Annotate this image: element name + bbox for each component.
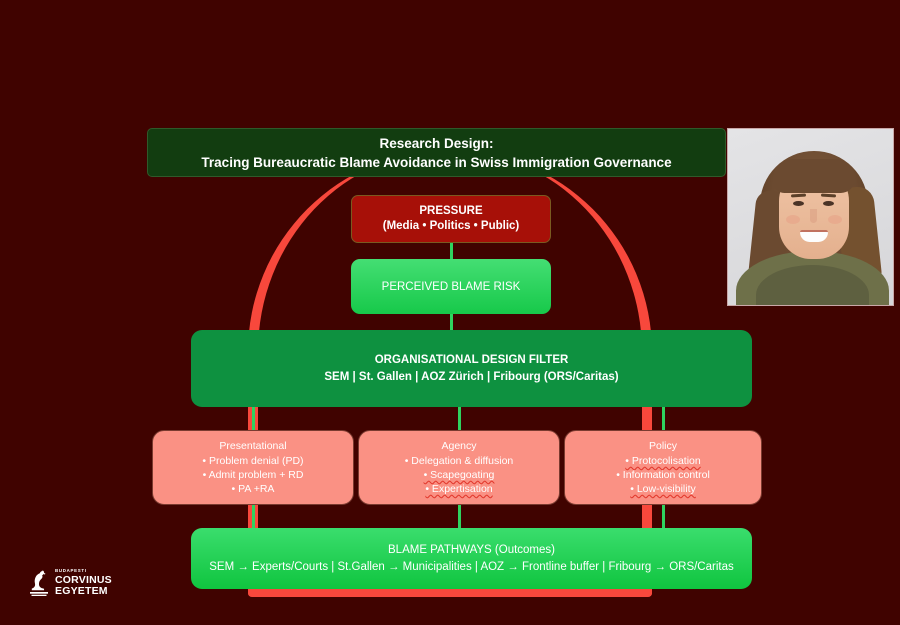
headshot-eye-left — [793, 201, 804, 206]
connector-filter-to-policy — [662, 406, 665, 431]
connector-policy-to-pathways — [662, 504, 665, 529]
slide-title-line2: Tracing Bureaucratic Blame Avoidance in … — [201, 153, 671, 172]
pillar-policy-item-2: • Low-visibility — [630, 482, 696, 496]
pillar-presentational-item-2: • PA +RA — [232, 482, 275, 496]
connector-presentational-to-pathways — [252, 504, 255, 529]
connector-filter-to-agency — [458, 406, 461, 431]
node-pathways-subtitle: SEM → Experts/Courts | St.Gallen → Munic… — [209, 559, 734, 576]
node-pathways-title: BLAME PATHWAYS (Outcomes) — [388, 542, 555, 559]
pillar-agency-item-1: • Scapegoating — [424, 468, 495, 482]
node-pressure-title: PRESSURE — [419, 204, 482, 219]
node-organisational-design-filter: ORGANISATIONAL DESIGN FILTER SEM | St. G… — [191, 330, 752, 407]
headshot-eye-right — [823, 201, 834, 206]
pillar-presentational-heading: Presentational — [219, 439, 286, 453]
headshot-cheek-left — [786, 215, 800, 224]
slide-title-line1: Research Design: — [379, 134, 493, 153]
node-perceived-blame-risk-label: PERCEIVED BLAME RISK — [382, 281, 521, 293]
node-pillar-presentational: Presentational • Problem denial (PD) • A… — [152, 430, 354, 505]
connector-filter-to-presentational — [252, 406, 255, 431]
node-pressure: PRESSURE (Media • Politics • Public) — [351, 195, 551, 243]
pillar-policy-heading: Policy — [649, 439, 677, 453]
connector-agency-to-pathways — [458, 504, 461, 529]
pillar-agency-heading: Agency — [441, 439, 476, 453]
logo-line-egyetem: EGYETEM — [55, 586, 112, 597]
pillar-agency-item-0: • Delegation & diffusion — [405, 454, 514, 468]
presenter-headshot — [727, 128, 894, 306]
headshot-cheek-right — [828, 215, 842, 224]
pillar-policy-item-0: • Protocolisation — [625, 454, 700, 468]
node-blame-pathways: BLAME PATHWAYS (Outcomes) SEM → Experts/… — [191, 528, 752, 589]
pillar-presentational-item-1: • Admit problem + RD — [203, 468, 304, 482]
pillar-policy-item-1: • Information control — [616, 468, 710, 482]
node-pillar-policy: Policy • Protocolisation • Information c… — [564, 430, 762, 505]
headshot-fringe — [773, 159, 855, 193]
slide-title-bar: Research Design: Tracing Bureaucratic Bl… — [147, 128, 726, 177]
pillar-presentational-item-0: • Problem denial (PD) — [202, 454, 303, 468]
node-filter-title: ORGANISATIONAL DESIGN FILTER — [375, 352, 569, 369]
logo-line-corvinus: CORVINUS — [55, 575, 112, 586]
logo-wordmark: BUDAPESTI CORVINUS EGYETEM — [55, 569, 112, 596]
headshot-smile — [800, 230, 828, 242]
corvinus-university-logo: BUDAPESTI CORVINUS EGYETEM — [28, 566, 138, 600]
node-filter-subtitle: SEM | St. Gallen | AOZ Zürich | Fribourg… — [324, 369, 618, 386]
node-pressure-subtitle: (Media • Politics • Public) — [383, 219, 520, 234]
node-perceived-blame-risk: PERCEIVED BLAME RISK — [351, 259, 551, 314]
slide-canvas: Research Design: Tracing Bureaucratic Bl… — [0, 0, 900, 625]
pillar-agency-item-2: • Expertisation — [425, 482, 492, 496]
raven-emblem-icon — [28, 569, 50, 597]
node-pillar-agency: Agency • Delegation & diffusion • Scapeg… — [358, 430, 560, 505]
headshot-nose — [810, 209, 817, 223]
